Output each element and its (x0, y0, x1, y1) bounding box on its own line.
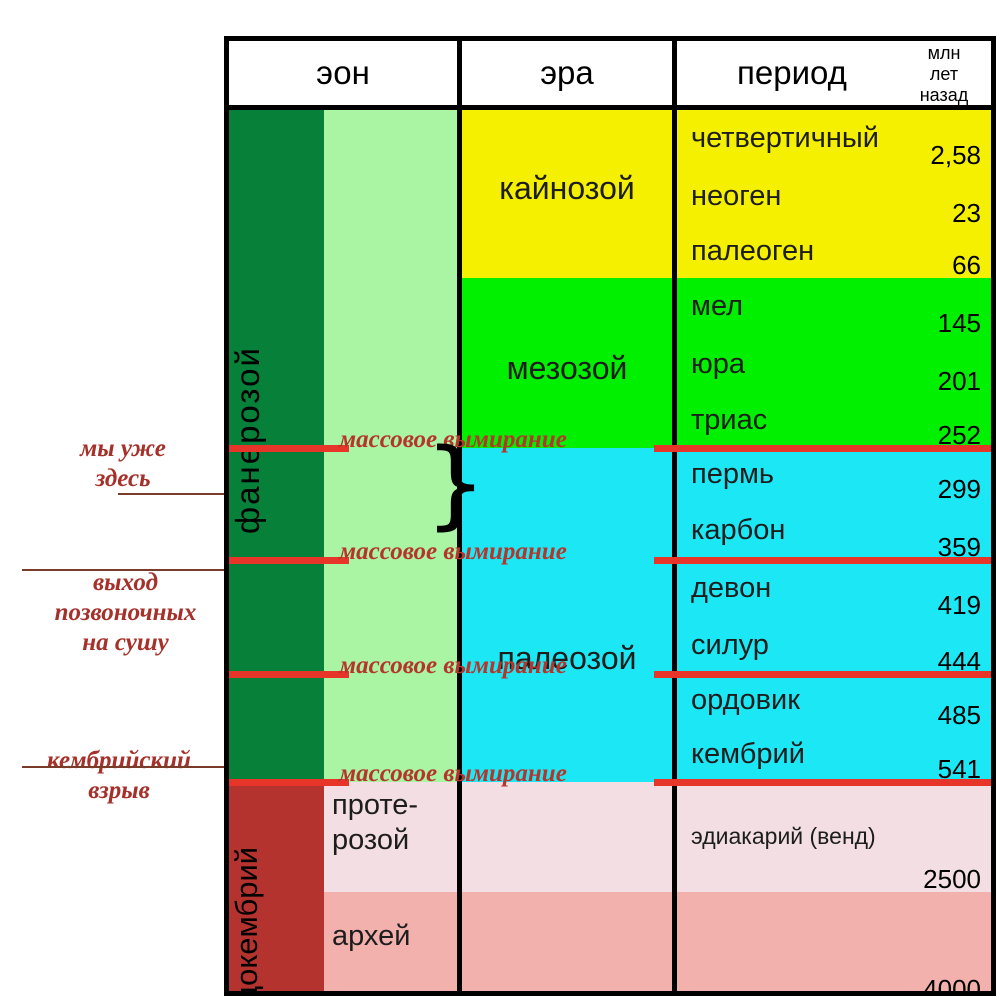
period-label: карбон (691, 514, 785, 547)
period-age-label: 201 (827, 366, 981, 397)
period-label: неоген (691, 180, 781, 213)
header-eon-label: эон (316, 54, 370, 92)
chart-body: фанерозой докембрий кайнозой мезозой пал… (229, 110, 991, 991)
period-label: триас (691, 404, 767, 437)
era-band-precambrian-proterozoic (462, 782, 672, 892)
period-label: мел (691, 290, 743, 323)
eon-label-precambrian: докембрий (229, 790, 324, 991)
annotation-we-are-here: мы уже здесь (38, 434, 208, 494)
period-label: палеоген (691, 235, 814, 268)
mass-extinction-line (229, 445, 349, 452)
period-label: девон (691, 572, 771, 605)
period-age-label: 66 (827, 250, 981, 281)
mass-extinction-line (654, 445, 991, 452)
header-units-label: млн лет назад (905, 43, 983, 106)
period-age-label: 23 (827, 198, 981, 229)
period-label: силур (691, 629, 769, 662)
annotation-vertebrates-on-land: выход позвоночных на сушу (28, 568, 223, 658)
header-era: эра (462, 41, 672, 105)
mass-extinction-line (654, 779, 991, 786)
period-age-label: 419 (827, 590, 981, 621)
period-label: ордовик (691, 684, 800, 717)
annotation-cambrian-explosion: кембрийский взрыв (14, 746, 224, 806)
mass-extinction-line (229, 671, 349, 678)
era-label-archean: архей (332, 920, 457, 953)
geologic-time-scale: эон эра период млн лет назад фанерозой д… (224, 36, 996, 996)
era-band-precambrian-archean (462, 892, 672, 991)
era-label-cenozoic: кайнозой (462, 170, 672, 207)
eon-label-phanerozoic: фанерозой (229, 230, 324, 650)
brace-icon: } (425, 436, 486, 532)
period-age-label: 299 (827, 474, 981, 505)
era-band-paleozoic (462, 448, 672, 782)
mass-extinction-line (229, 779, 349, 786)
period-label: пермь (691, 458, 774, 491)
era-label-mesozoic: мезозой (462, 350, 672, 387)
period-label: юра (691, 348, 745, 381)
mass-extinction-line (654, 557, 991, 564)
period-age-label: 485 (827, 700, 981, 731)
header-era-label: эра (540, 54, 594, 92)
period-age-label: 4000 (827, 974, 981, 991)
header-eon: эон (229, 41, 457, 105)
period-label: эдиакарий (венд) (691, 823, 876, 850)
header-period: период (677, 41, 907, 105)
period-age-label: 2,58 (827, 140, 981, 171)
era-label-proterozoic: проте- розой (332, 788, 457, 858)
period-label: кембрий (691, 738, 805, 771)
period-age-label: 145 (827, 308, 981, 339)
mass-extinction-line (654, 671, 991, 678)
mass-extinction-line (229, 557, 349, 564)
mass-extinction-label: массовое вымирание (339, 760, 567, 788)
period-age-label: 2500 (827, 864, 981, 895)
header-period-label: период (737, 54, 847, 92)
mass-extinction-label: массовое вымирание (339, 652, 567, 680)
mass-extinction-label: массовое вымирание (339, 538, 567, 566)
